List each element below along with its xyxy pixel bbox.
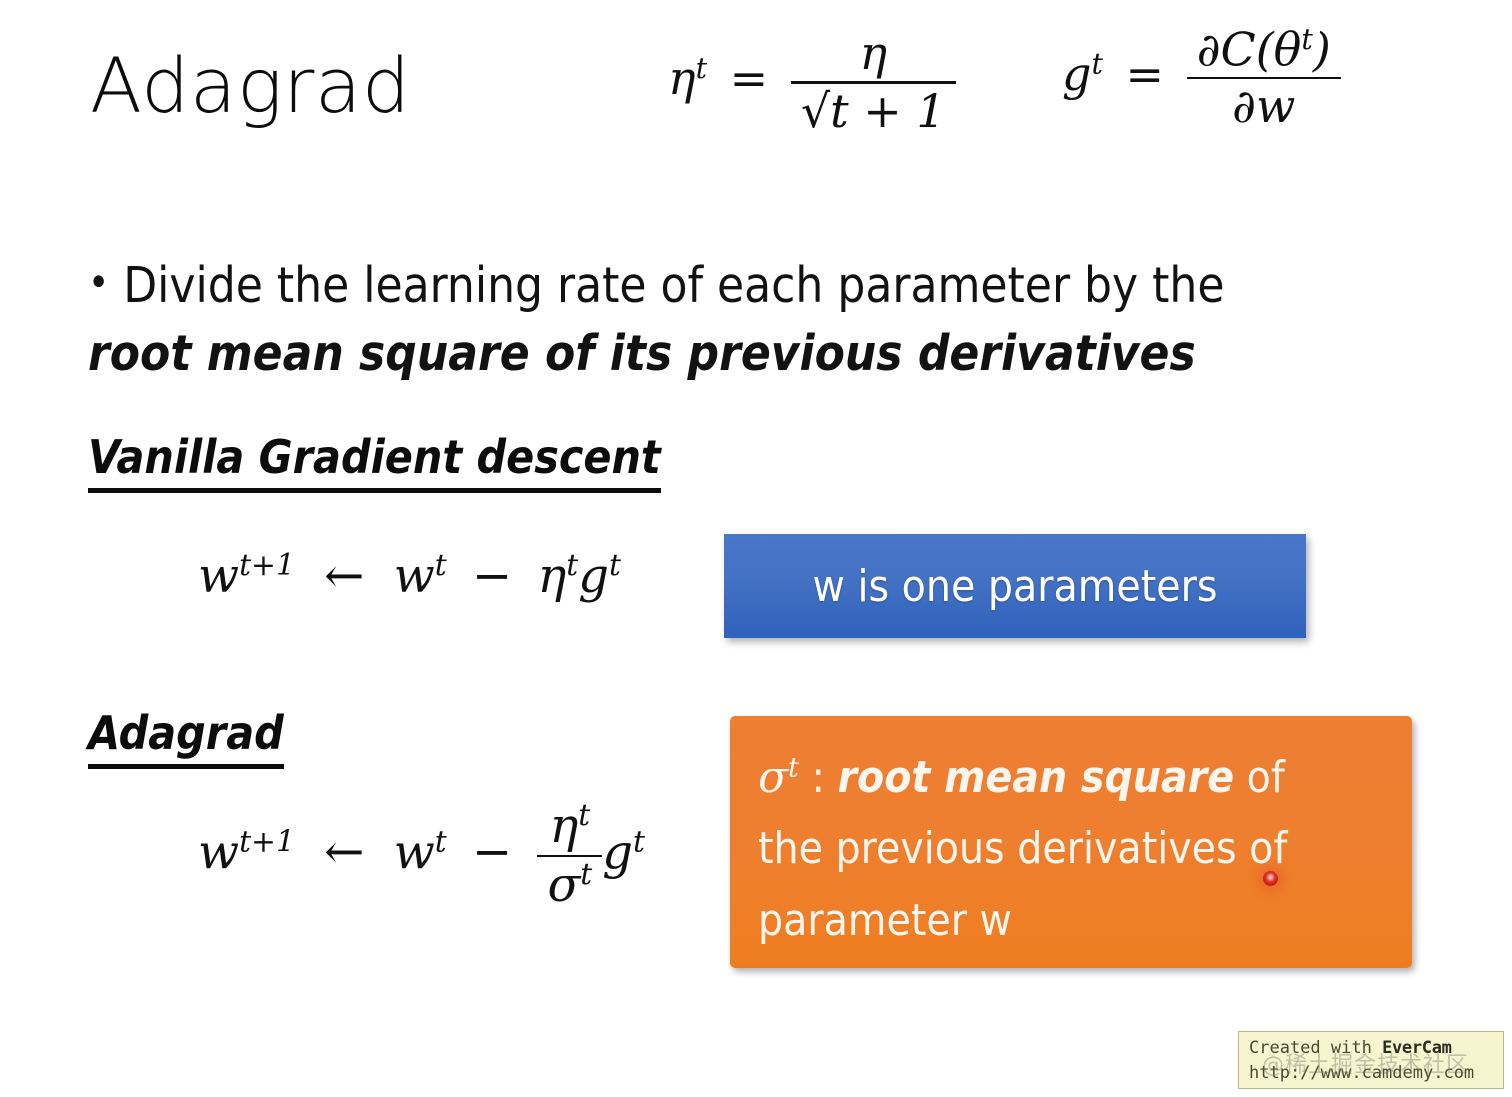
formula-eta-lhs: η	[668, 51, 696, 105]
callout-orange-line-3: parameter w	[758, 885, 1386, 956]
formula-vanilla-term1: w	[394, 548, 435, 604]
formula-adagrad-term1-sup: t	[435, 824, 447, 859]
formula-vanilla-gradient-descent: wt+1 ← wt − ηtgt	[198, 548, 621, 604]
formula-adagrad-fraction: ηt σt	[537, 800, 602, 912]
formula-vanilla-lhs: w	[198, 548, 239, 604]
formula-g-equals: =	[1118, 47, 1173, 101]
formula-adagrad-denominator-base: σ	[547, 857, 580, 913]
formula-adagrad-lhs-sup: t+1	[239, 824, 295, 859]
formula-g-lhs: g	[1062, 47, 1091, 101]
formula-g-denominator: ∂w	[1187, 77, 1341, 132]
formula-learning-rate-decay: ηt = η √t + 1	[668, 28, 956, 136]
formula-adagrad-denominator: σt	[537, 855, 602, 912]
formula-g-numerator-head: ∂C(θ	[1197, 22, 1302, 76]
formula-vanilla-term1-sup: t	[435, 548, 447, 583]
bullet-marker: •	[88, 260, 109, 306]
formula-vanilla-lhs-sup: t+1	[239, 548, 295, 583]
formula-eta-equals: =	[722, 51, 777, 105]
formula-g-lhs-sup: t	[1091, 47, 1102, 80]
formula-eta-lhs-sup: t	[696, 52, 707, 85]
formula-g-numerator: ∂C(θt)	[1187, 24, 1341, 77]
callout-blue-text: w is one parameters	[813, 561, 1218, 612]
laser-pointer-dot	[1263, 871, 1278, 886]
slide-canvas: Adagrad ηt = η √t + 1 gt = ∂C(θt) ∂w • D…	[0, 0, 1512, 1097]
section-heading-vanilla-gradient-descent: Vanilla Gradient descent	[88, 430, 661, 493]
bullet-text-plain: Divide the learning rate of each paramet…	[123, 257, 1224, 314]
callout-orange-line-2: the previous derivatives of	[758, 813, 1386, 884]
callout-orange-sigma-definition: σt : root mean square of the previous de…	[730, 716, 1412, 968]
formula-vanilla-term3-sup: t	[609, 548, 621, 583]
formula-vanilla-minus: −	[462, 548, 522, 604]
callout-orange-emphasis: root mean square	[838, 752, 1235, 803]
section-heading-adagrad: Adagrad	[88, 706, 284, 769]
callout-orange-sigma-sup: t	[788, 752, 799, 783]
formula-adagrad-minus: −	[462, 824, 522, 880]
formula-vanilla-term3: g	[578, 548, 609, 604]
callout-orange-line-1: σt : root mean square of	[758, 742, 1386, 813]
formula-adagrad-denominator-sup: t	[580, 857, 592, 892]
formula-g-numerator-sup: t	[1301, 23, 1312, 56]
formula-vanilla-arrow: ←	[310, 548, 378, 604]
formula-g-fraction: ∂C(θt) ∂w	[1187, 24, 1341, 132]
formula-adagrad-arrow: ←	[310, 824, 378, 880]
bullet-paragraph: • Divide the learning rate of each param…	[88, 252, 1388, 387]
community-watermark-text: @稀土掘金技术社区	[1262, 1047, 1469, 1079]
formula-eta-numerator: η	[791, 28, 956, 81]
formula-eta-fraction: η √t + 1	[791, 28, 956, 136]
formula-adagrad-lhs: w	[198, 824, 239, 880]
formula-adagrad-numerator-base: η	[549, 798, 578, 854]
formula-adagrad-numerator-sup: t	[578, 798, 590, 833]
callout-orange-colon: :	[799, 752, 837, 803]
formula-adagrad-update: wt+1 ← wt − ηt σt gt	[198, 800, 645, 912]
formula-vanilla-term2: η	[537, 548, 566, 604]
formula-adagrad-numerator: ηt	[537, 800, 602, 855]
formula-adagrad-term3: g	[602, 824, 633, 880]
page-title: Adagrad	[90, 48, 411, 124]
formula-gradient: gt = ∂C(θt) ∂w	[1062, 24, 1341, 132]
bullet-text-emphasis: root mean square of its previous derivat…	[88, 325, 1196, 382]
callout-orange-sigma: σ	[758, 752, 788, 803]
formula-vanilla-term2-sup: t	[566, 548, 578, 583]
callout-orange-line1-tail: of	[1234, 752, 1285, 803]
callout-blue-w-is-one-parameter: w is one parameters	[724, 534, 1306, 638]
formula-eta-denominator: √t + 1	[791, 81, 956, 137]
formula-adagrad-term3-sup: t	[633, 824, 645, 859]
formula-adagrad-term1: w	[394, 824, 435, 880]
formula-g-numerator-tail: )	[1313, 22, 1331, 76]
